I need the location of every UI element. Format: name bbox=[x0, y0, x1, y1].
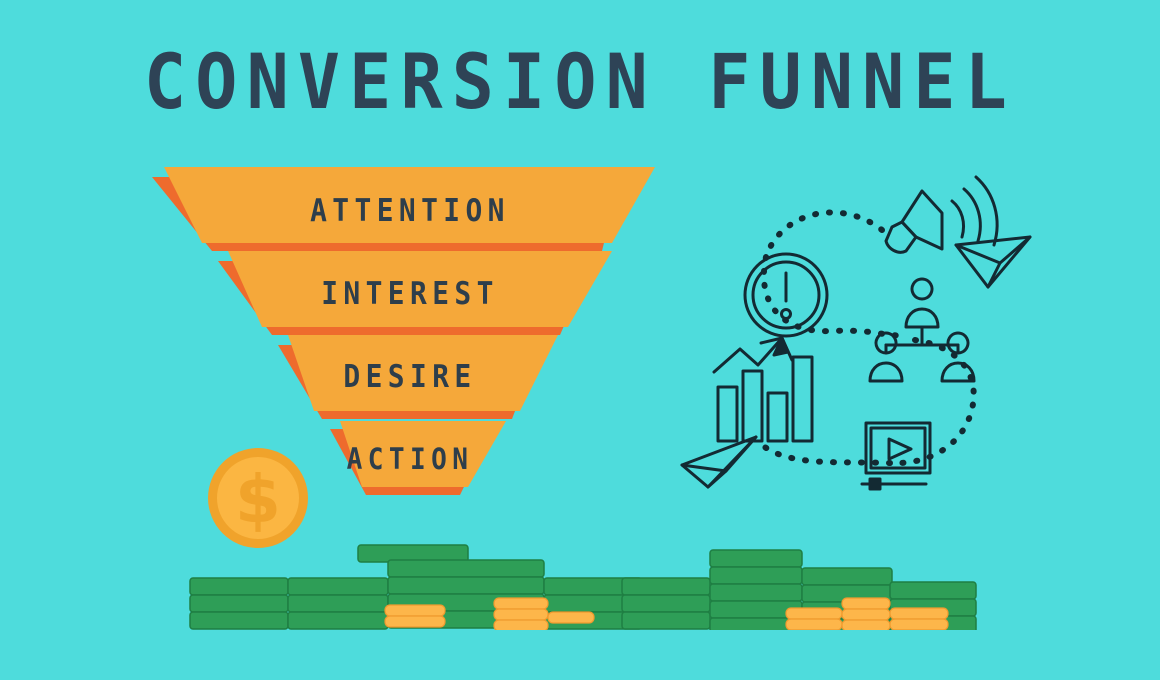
coin-disc bbox=[842, 598, 890, 609]
coin-stack bbox=[842, 598, 890, 630]
money-bill bbox=[190, 578, 288, 595]
marketing-icon-cluster bbox=[670, 175, 1050, 505]
money-stacks bbox=[0, 520, 1160, 630]
money-bill bbox=[288, 612, 388, 629]
money-bill bbox=[622, 595, 710, 612]
money-bill bbox=[710, 584, 802, 601]
page-title: CONVERSION FUNNEL bbox=[46, 44, 1113, 120]
money-bill-stack bbox=[622, 578, 710, 629]
video-player-icon bbox=[862, 423, 930, 489]
money-bill bbox=[710, 567, 802, 584]
coin-disc bbox=[890, 608, 948, 619]
money-bill bbox=[190, 595, 288, 612]
paper-plane-icon bbox=[682, 437, 756, 487]
money-bill bbox=[388, 577, 544, 594]
coin-disc bbox=[494, 609, 548, 620]
infographic-canvas: CONVERSION FUNNEL ATTENTION INTEREST bbox=[0, 0, 1160, 680]
coin-disc bbox=[494, 598, 548, 609]
bar-chart-growth-icon bbox=[714, 338, 812, 441]
coin-disc bbox=[494, 620, 548, 630]
money-bill bbox=[890, 582, 976, 599]
money-bill-stack bbox=[190, 578, 288, 629]
coin-stack bbox=[890, 608, 948, 630]
coin-disc bbox=[786, 619, 842, 630]
money-bill bbox=[288, 578, 388, 595]
coin-disc bbox=[890, 619, 948, 630]
coin-stack bbox=[786, 608, 842, 630]
coin-stack bbox=[494, 598, 548, 630]
coin-stack bbox=[385, 605, 445, 627]
money-bill bbox=[622, 612, 710, 629]
money-bill bbox=[288, 595, 388, 612]
money-bill bbox=[710, 550, 802, 567]
money-bill bbox=[622, 578, 710, 595]
coin-disc bbox=[548, 612, 594, 623]
users-network-icon bbox=[870, 279, 974, 381]
exclamation-circle-icon bbox=[745, 254, 827, 336]
money-bill bbox=[802, 568, 892, 585]
coin-disc bbox=[385, 605, 445, 616]
money-bill bbox=[190, 612, 288, 629]
coin-disc bbox=[385, 616, 445, 627]
coin-disc bbox=[842, 609, 890, 620]
coin-disc bbox=[842, 620, 890, 630]
money-bill bbox=[388, 560, 544, 577]
money-bill-stack bbox=[288, 578, 388, 629]
coin-disc bbox=[786, 608, 842, 619]
coin-stack bbox=[548, 612, 594, 623]
